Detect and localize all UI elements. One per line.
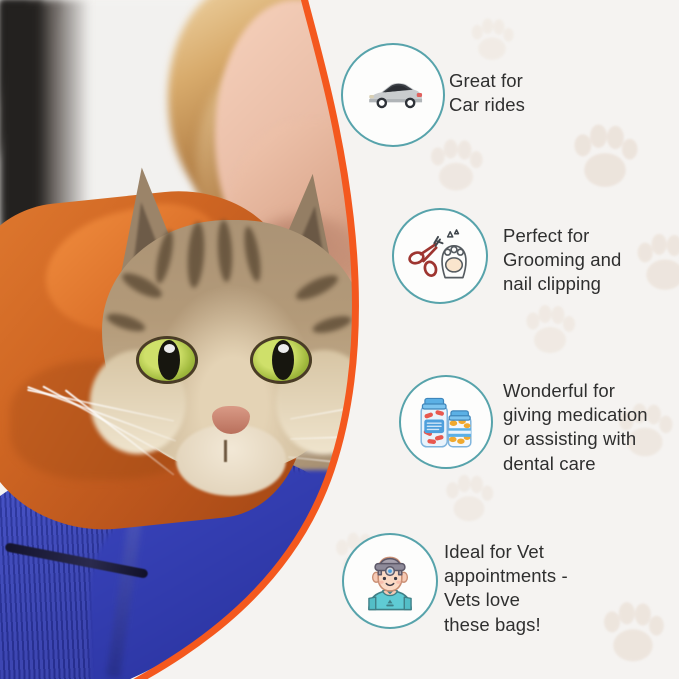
veterinarian-icon: [359, 550, 421, 612]
car-icon: [360, 75, 426, 115]
feature-list: Great for Car rides: [0, 0, 679, 679]
product-infographic: Great for Car rides: [0, 0, 679, 679]
feature-icon-circle-car-rides[interactable]: [341, 43, 445, 147]
feature-icon-circle-grooming[interactable]: [392, 208, 488, 304]
feature-label-medication: Wonderful for giving medication or assis…: [503, 379, 679, 476]
nail-clippers-paw-icon: [408, 228, 472, 284]
feature-label-vet: Ideal for Vet appointments - Vets love t…: [444, 540, 679, 637]
medicine-bottles-icon: [415, 392, 477, 452]
feature-label-grooming: Perfect for Grooming and nail clipping: [503, 224, 679, 297]
feature-icon-circle-medication[interactable]: [399, 375, 493, 469]
feature-label-car-rides: Great for Car rides: [449, 69, 679, 117]
feature-icon-circle-vet[interactable]: [342, 533, 438, 629]
